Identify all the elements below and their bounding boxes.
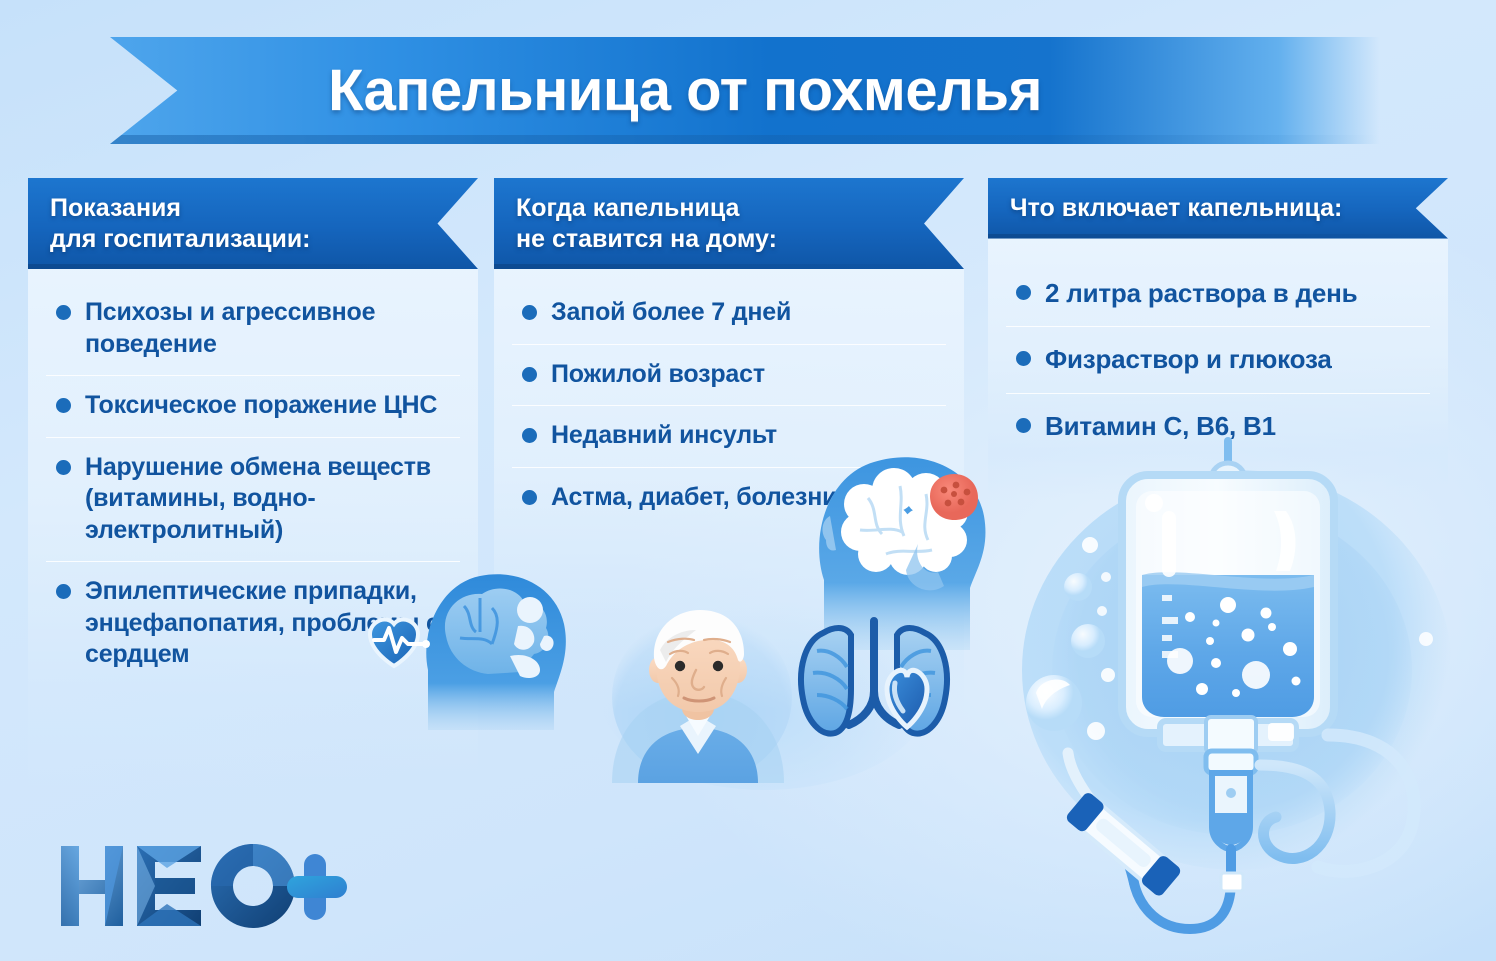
bullet-dot-icon <box>1016 285 1031 300</box>
list-item: Эпилептические припадки, энцефапопатия, … <box>46 561 460 686</box>
list-item: Физраствор и глюкоза <box>1006 326 1430 393</box>
list-item: Недавний инсульт <box>512 405 946 467</box>
card-contraindications-header: Когда капельница не ставится на дому: <box>494 178 964 269</box>
iv-background-blob <box>1022 470 1452 870</box>
logo-letter-e <box>137 846 201 926</box>
card-indications-body: Психозы и агрессивное поведение Токсичес… <box>28 269 478 789</box>
brand-logo <box>55 836 355 936</box>
card-contraindications-header-line2: не ставится на дому: <box>516 224 908 255</box>
iv-background-blob-inner <box>1052 505 1412 835</box>
bullet-dot-icon <box>522 305 537 320</box>
logo-letter-o <box>211 844 295 928</box>
list-item: Пожилой возраст <box>512 344 946 406</box>
title-banner: Капельница от похмелья <box>110 37 1380 144</box>
bullet-dot-icon <box>1016 351 1031 366</box>
list-item-label: Витамин C, B6, B1 <box>1045 410 1276 443</box>
card-contents: Что включает капельница: 2 литра раствор… <box>988 178 1448 500</box>
list-item-label: Эпилептические припадки, энцефапопатия, … <box>85 576 456 671</box>
card-contents-body: 2 литра раствора в день Физраствор и глю… <box>988 239 1448 500</box>
list-item-label: Психозы и агрессивное поведение <box>85 297 456 360</box>
card-indications: Показания для госпитализации: Психозы и … <box>28 178 478 789</box>
card-contents-header: Что включает капельница: <box>988 178 1448 239</box>
bullet-dot-icon <box>522 490 537 505</box>
list-item-label: Токсическое поражение ЦНС <box>85 390 437 422</box>
bullet-dot-icon <box>1016 418 1031 433</box>
card-indications-header-line1: Показания <box>50 193 422 224</box>
card-indications-header: Показания для госпитализации: <box>28 178 478 269</box>
list-item-label: Запой более 7 дней <box>551 297 791 329</box>
list-item-label: Недавний инсульт <box>551 420 777 452</box>
list-item-label: Нарушение обмена веществ (витамины, водн… <box>85 452 456 547</box>
list-item-label: Астма, диабет, болезни сердца <box>551 482 931 514</box>
iv-drip-bag-icon <box>1010 435 1480 955</box>
bullet-dot-icon <box>522 428 537 443</box>
list-item: Нарушение обмена веществ (витамины, водн… <box>46 437 460 562</box>
list-item: Витамин C, B6, B1 <box>1006 393 1430 460</box>
logo-letter-n <box>61 846 123 926</box>
logo-plus-icon <box>287 854 347 920</box>
bullet-dot-icon <box>56 398 71 413</box>
card-indications-header-line2: для госпитализации: <box>50 224 422 255</box>
page-title: Капельница от похмелья <box>328 57 1162 124</box>
list-item: Астма, диабет, болезни сердца <box>512 467 946 529</box>
bullet-dot-icon <box>56 460 71 475</box>
card-contraindications-body: Запой более 7 дней Пожилой возраст Недав… <box>494 269 964 709</box>
list-item: 2 литра раствора в день <box>1006 261 1430 327</box>
card-contraindications-header-line1: Когда капельница <box>516 193 908 224</box>
card-contraindications: Когда капельница не ставится на дому: За… <box>494 178 964 709</box>
list-item: Психозы и агрессивное поведение <box>46 291 460 375</box>
bullet-dot-icon <box>56 305 71 320</box>
list-item: Токсическое поражение ЦНС <box>46 375 460 437</box>
list-item: Запой более 7 дней <box>512 291 946 344</box>
card-contents-header-line1: Что включает капельница: <box>1010 193 1392 224</box>
list-item-label: Пожилой возраст <box>551 359 765 391</box>
list-item-label: 2 литра раствора в день <box>1045 277 1357 310</box>
bullet-dot-icon <box>56 584 71 599</box>
bullet-dot-icon <box>522 367 537 382</box>
list-item-label: Физраствор и глюкоза <box>1045 343 1332 376</box>
